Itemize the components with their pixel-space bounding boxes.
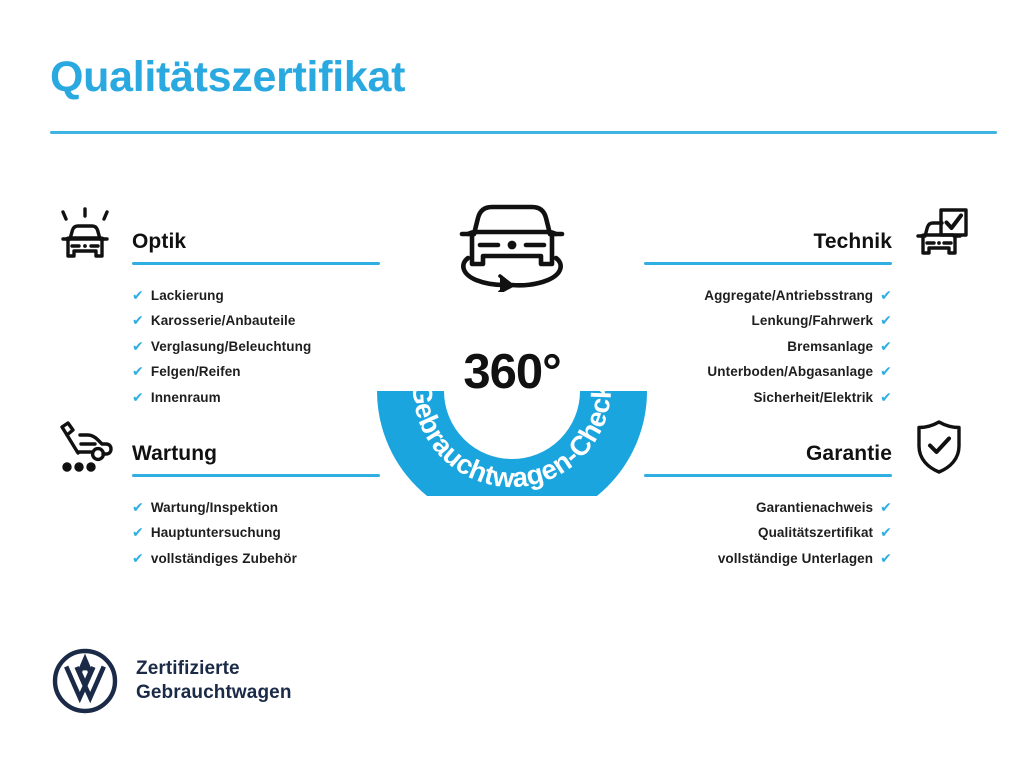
section-wartung-title: Wartung <box>132 442 217 466</box>
list-item-label: Wartung/Inspektion <box>151 501 278 515</box>
section-optik-underline <box>132 262 380 265</box>
list-item-label: Qualitätszertifikat <box>758 526 873 540</box>
list-item: ✔Hauptuntersuchung <box>132 520 380 546</box>
list-item: Garantienachweis✔ <box>644 494 892 520</box>
list-item-label: Lackierung <box>151 289 224 303</box>
shield-check-icon <box>902 414 976 480</box>
check-icon: ✔ <box>132 339 144 353</box>
section-technik: Technik Aggregate/Antriebsstrang✔ Lenkun… <box>644 200 976 410</box>
list-item-label: Aggregate/Antriebsstrang <box>704 289 873 303</box>
list-item-label: Lenkung/Fahrwerk <box>752 314 874 328</box>
list-item-label: Karosserie/Anbauteile <box>151 314 296 328</box>
vw-certified-label: Zertifizierte Gebrauchtwagen <box>136 657 292 706</box>
check-icon: ✔ <box>132 390 144 404</box>
list-item: Sicherheit/Elektrik✔ <box>644 384 892 410</box>
list-item: ✔Verglasung/Beleuchtung <box>132 333 380 359</box>
list-item-label: Garantienachweis <box>756 501 873 515</box>
section-technik-title: Technik <box>814 230 893 254</box>
section-wartung-header: Wartung <box>48 412 380 484</box>
list-item-label: Verglasung/Beleuchtung <box>151 340 311 354</box>
list-item: Lenkung/Fahrwerk✔ <box>644 308 892 334</box>
section-optik: Optik ✔Lackierung ✔Karosserie/Anbauteile… <box>48 200 380 410</box>
check-icon: ✔ <box>132 525 144 539</box>
section-optik-header: Optik <box>48 200 380 272</box>
list-item: Aggregate/Antriebsstrang✔ <box>644 282 892 308</box>
vw-label-line1: Zertifizierte <box>136 657 292 681</box>
section-garantie-title: Garantie <box>806 442 892 466</box>
section-technik-header: Technik <box>644 200 976 272</box>
section-wartung-underline <box>132 474 380 477</box>
section-technik-underline <box>644 262 892 265</box>
badge-center-value: 360° <box>376 348 648 397</box>
check-icon: ✔ <box>880 313 892 327</box>
check-icon: ✔ <box>880 288 892 302</box>
section-wartung-list: ✔Wartung/Inspektion ✔Hauptuntersuchung ✔… <box>132 494 380 571</box>
section-optik-title: Optik <box>132 230 186 254</box>
check-icon: ✔ <box>880 364 892 378</box>
section-technik-list: Aggregate/Antriebsstrang✔ Lenkung/Fahrwe… <box>644 282 892 410</box>
list-item-label: vollständige Unterlagen <box>718 552 873 566</box>
check-icon: ✔ <box>132 288 144 302</box>
check-icon: ✔ <box>880 339 892 353</box>
section-garantie-header: Garantie <box>644 412 976 484</box>
list-item-label: Felgen/Reifen <box>151 365 241 379</box>
list-item: Bremsanlage✔ <box>644 333 892 359</box>
list-item-label: Innenraum <box>151 391 221 405</box>
check-icon: ✔ <box>132 551 144 565</box>
list-item: ✔Innenraum <box>132 384 380 410</box>
check-icon: ✔ <box>880 390 892 404</box>
car-shine-icon <box>48 202 122 268</box>
title-divider <box>50 131 997 134</box>
list-item: Unterboden/Abgasanlage✔ <box>644 359 892 385</box>
list-item: ✔Wartung/Inspektion <box>132 494 380 520</box>
section-garantie: Garantie Garantienachweis✔ Qualitätszert… <box>644 412 976 571</box>
vw-certified-logo-block: Zertifizierte Gebrauchtwagen <box>52 648 292 714</box>
vw-label-line2: Gebrauchtwagen <box>136 681 292 705</box>
list-item: Qualitätszertifikat✔ <box>644 520 892 546</box>
section-garantie-list: Garantienachweis✔ Qualitätszertifikat✔ v… <box>644 494 892 571</box>
list-item-label: vollständiges Zubehör <box>151 552 297 566</box>
list-item: ✔vollständiges Zubehör <box>132 545 380 571</box>
check-icon: ✔ <box>880 500 892 514</box>
list-item-label: Hauptuntersuchung <box>151 526 281 540</box>
list-item-label: Sicherheit/Elektrik <box>753 391 873 405</box>
section-optik-list: ✔Lackierung ✔Karosserie/Anbauteile ✔Verg… <box>132 282 380 410</box>
list-item: ✔Felgen/Reifen <box>132 359 380 385</box>
check-icon: ✔ <box>132 364 144 378</box>
car-service-tool-icon <box>48 414 122 480</box>
check-icon: ✔ <box>132 500 144 514</box>
vw-logo <box>52 648 118 714</box>
section-garantie-underline <box>644 474 892 477</box>
page-title: Qualitätszertifikat <box>50 54 405 101</box>
list-item: vollständige Unterlagen✔ <box>644 545 892 571</box>
list-item-label: Unterboden/Abgasanlage <box>707 365 873 379</box>
list-item: ✔Lackierung <box>132 282 380 308</box>
list-item: ✔Karosserie/Anbauteile <box>132 308 380 334</box>
list-item-label: Bremsanlage <box>787 340 873 354</box>
check-icon: ✔ <box>880 525 892 539</box>
certificate-page: Qualitätszertifikat Optik <box>0 0 1024 768</box>
check-icon: ✔ <box>880 551 892 565</box>
car-checkbox-icon <box>902 202 976 268</box>
check-icon: ✔ <box>132 313 144 327</box>
section-wartung: Wartung ✔Wartung/Inspektion ✔Hauptunters… <box>48 412 380 571</box>
badge-360-check: Gebrauchtwagen-Check 360° <box>376 196 648 496</box>
